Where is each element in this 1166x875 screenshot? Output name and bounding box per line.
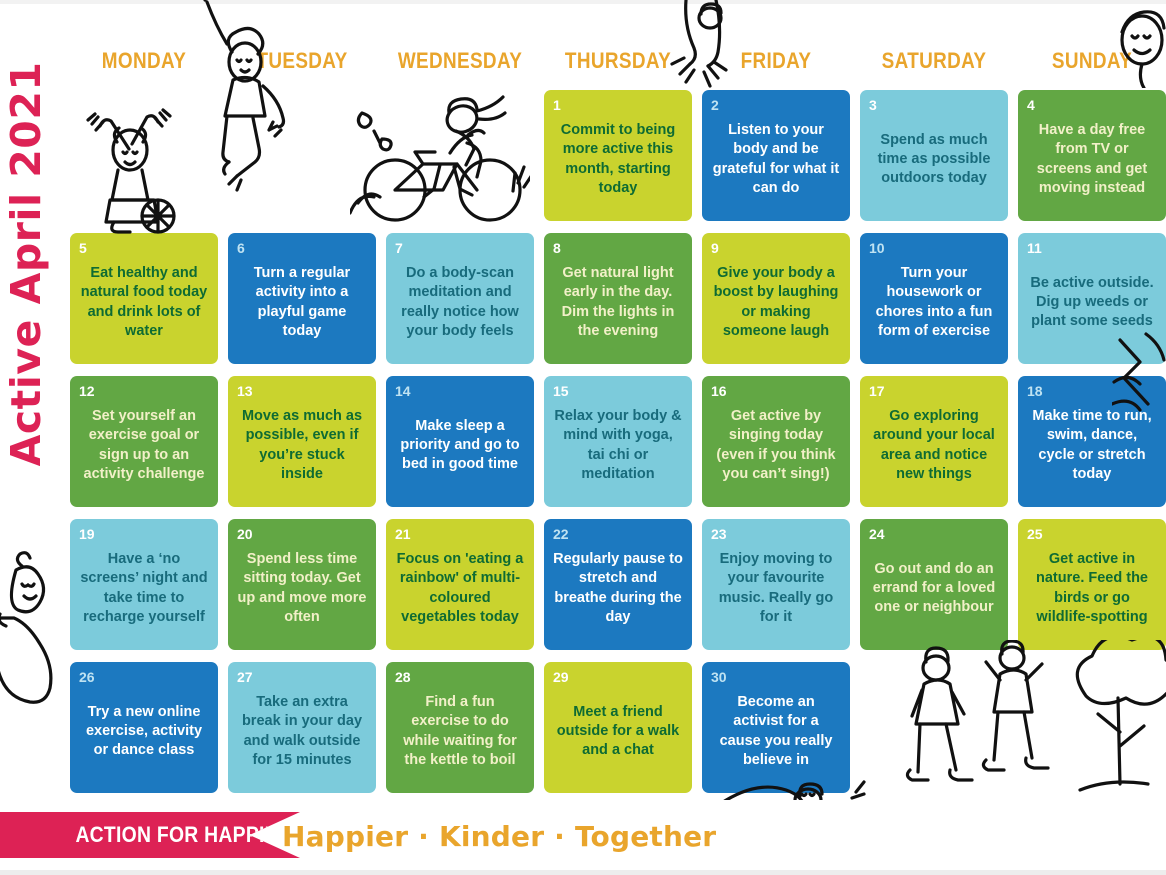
day-cell-25[interactable]: 25Get active in nature. Feed the birds o… bbox=[1018, 519, 1166, 650]
day-cell-30[interactable]: 30Become an activist for a cause you rea… bbox=[702, 662, 850, 793]
day-cell-5[interactable]: 5Eat healthy and natural food today and … bbox=[70, 233, 218, 364]
day-cell-12[interactable]: 12Set yourself an exercise goal or sign … bbox=[70, 376, 218, 507]
day-cell-17[interactable]: 17Go exploring around your local area an… bbox=[860, 376, 1008, 507]
weekday-header-sunday: SUNDAY bbox=[1028, 48, 1155, 74]
top-divider bbox=[0, 0, 1166, 4]
day-cell-19[interactable]: 19Have a ‘no screens’ night and take tim… bbox=[70, 519, 218, 650]
day-action-text: Focus on 'eating a rainbow' of multi-col… bbox=[392, 535, 528, 642]
brand-name: ACTION FOR HAPPINESS bbox=[0, 822, 318, 848]
day-action-text: Go out and do an errand for a loved one … bbox=[866, 535, 1002, 642]
day-cell-21[interactable]: 21Focus on 'eating a rainbow' of multi-c… bbox=[386, 519, 534, 650]
day-action-text: Spend as much time as possible outdoors … bbox=[866, 106, 1002, 213]
day-action-text: Set yourself an exercise goal or sign up… bbox=[76, 392, 212, 499]
day-cell-16[interactable]: 16Get active by singing today (even if y… bbox=[702, 376, 850, 507]
day-cell-18[interactable]: 18Make time to run, swim, dance, cycle o… bbox=[1018, 376, 1166, 507]
day-action-text: Make time to run, swim, dance, cycle or … bbox=[1024, 392, 1160, 499]
day-action-text: Enjoy moving to your favourite music. Re… bbox=[708, 535, 844, 642]
day-action-text: Turn a regular activity into a playful g… bbox=[234, 249, 370, 356]
day-action-text: Have a day free from TV or screens and g… bbox=[1024, 106, 1160, 213]
day-cell-11[interactable]: 11Be active outside. Dig up weeds or pla… bbox=[1018, 233, 1166, 364]
day-cell-14[interactable]: 14Make sleep a priority and go to bed in… bbox=[386, 376, 534, 507]
day-cell-6[interactable]: 6Turn a regular activity into a playful … bbox=[228, 233, 376, 364]
doodle-banana-apple bbox=[0, 540, 66, 720]
day-cell-29[interactable]: 29Meet a friend outside for a walk and a… bbox=[544, 662, 692, 793]
day-cell-4[interactable]: 4Have a day free from TV or screens and … bbox=[1018, 90, 1166, 221]
day-cell-8[interactable]: 8Get natural light early in the day. Dim… bbox=[544, 233, 692, 364]
weekday-header-monday: MONDAY bbox=[80, 48, 207, 74]
day-cell-28[interactable]: 28Find a fun exercise to do while waitin… bbox=[386, 662, 534, 793]
day-cell-13[interactable]: 13Move as much as possible, even if you’… bbox=[228, 376, 376, 507]
footer: ACTION FOR HAPPINESS Happier · Kinder · … bbox=[0, 800, 1166, 875]
calendar-page: Active April 2021 MONDAYTUESDAYWEDNESDAY… bbox=[0, 0, 1166, 875]
day-action-text: Spend less time sitting today. Get up an… bbox=[234, 535, 370, 642]
calendar-grid: 1Commit to being more active this month,… bbox=[70, 90, 1166, 800]
day-action-text: Have a ‘no screens’ night and take time … bbox=[76, 535, 212, 642]
brand-banner: ACTION FOR HAPPINESS bbox=[0, 812, 300, 858]
day-action-text: Be active outside. Dig up weeds or plant… bbox=[1024, 249, 1160, 356]
day-cell-22[interactable]: 22Regularly pause to stretch and breathe… bbox=[544, 519, 692, 650]
day-action-text: Relax your body & mind with yoga, tai ch… bbox=[550, 392, 686, 499]
day-action-text: Go exploring around your local area and … bbox=[866, 392, 1002, 499]
day-action-text: Get active by singing today (even if you… bbox=[708, 392, 844, 499]
day-cell-3[interactable]: 3Spend as much time as possible outdoors… bbox=[860, 90, 1008, 221]
day-action-text: Do a body-scan meditation and really not… bbox=[392, 249, 528, 356]
day-action-text: Get natural light early in the day. Dim … bbox=[550, 249, 686, 356]
weekday-header-thursday: THURSDAY bbox=[554, 48, 681, 74]
day-cell-1[interactable]: 1Commit to being more active this month,… bbox=[544, 90, 692, 221]
day-cell-9[interactable]: 9Give your body a boost by laughing or m… bbox=[702, 233, 850, 364]
day-action-text: Become an activist for a cause you reall… bbox=[708, 678, 844, 785]
day-action-text: Commit to being more active this month, … bbox=[550, 106, 686, 213]
day-action-text: Meet a friend outside for a walk and a c… bbox=[550, 678, 686, 785]
day-cell-7[interactable]: 7Do a body-scan meditation and really no… bbox=[386, 233, 534, 364]
day-cell-24[interactable]: 24Go out and do an errand for a loved on… bbox=[860, 519, 1008, 650]
day-cell-20[interactable]: 20Spend less time sitting today. Get up … bbox=[228, 519, 376, 650]
month-title-text: Active April 2021 bbox=[2, 24, 50, 504]
footer-divider bbox=[0, 870, 1166, 875]
weekday-header-tuesday: TUESDAY bbox=[238, 48, 365, 74]
day-cell-10[interactable]: 10Turn your housework or chores into a f… bbox=[860, 233, 1008, 364]
day-action-text: Turn your housework or chores into a fun… bbox=[866, 249, 1002, 356]
weekday-header-row: MONDAYTUESDAYWEDNESDAYTHURSDAYFRIDAYSATU… bbox=[70, 48, 1166, 84]
day-action-text: Give your body a boost by laughing or ma… bbox=[708, 249, 844, 356]
day-cell-15[interactable]: 15Relax your body & mind with yoga, tai … bbox=[544, 376, 692, 507]
weekday-header-friday: FRIDAY bbox=[712, 48, 839, 74]
tagline: Happier · Kinder · Together bbox=[282, 820, 716, 853]
day-cell-26[interactable]: 26Try a new online exercise, activity or… bbox=[70, 662, 218, 793]
day-cell-2[interactable]: 2Listen to your body and be grateful for… bbox=[702, 90, 850, 221]
day-action-text: Make sleep a priority and go to bed in g… bbox=[392, 392, 528, 499]
day-action-text: Move as much as possible, even if you’re… bbox=[234, 392, 370, 499]
day-action-text: Eat healthy and natural food today and d… bbox=[76, 249, 212, 356]
day-action-text: Listen to your body and be grateful for … bbox=[708, 106, 844, 213]
month-title: Active April 2021 bbox=[0, 0, 58, 560]
weekday-header-wednesday: WEDNESDAY bbox=[396, 48, 523, 74]
day-action-text: Find a fun exercise to do while waiting … bbox=[392, 678, 528, 785]
day-cell-23[interactable]: 23Enjoy moving to your favourite music. … bbox=[702, 519, 850, 650]
day-cell-27[interactable]: 27Take an extra break in your day and wa… bbox=[228, 662, 376, 793]
day-action-text: Try a new online exercise, activity or d… bbox=[76, 678, 212, 785]
day-action-text: Get active in nature. Feed the birds or … bbox=[1024, 535, 1160, 642]
day-action-text: Take an extra break in your day and walk… bbox=[234, 678, 370, 785]
weekday-header-saturday: SATURDAY bbox=[870, 48, 997, 74]
day-action-text: Regularly pause to stretch and breathe d… bbox=[550, 535, 686, 642]
